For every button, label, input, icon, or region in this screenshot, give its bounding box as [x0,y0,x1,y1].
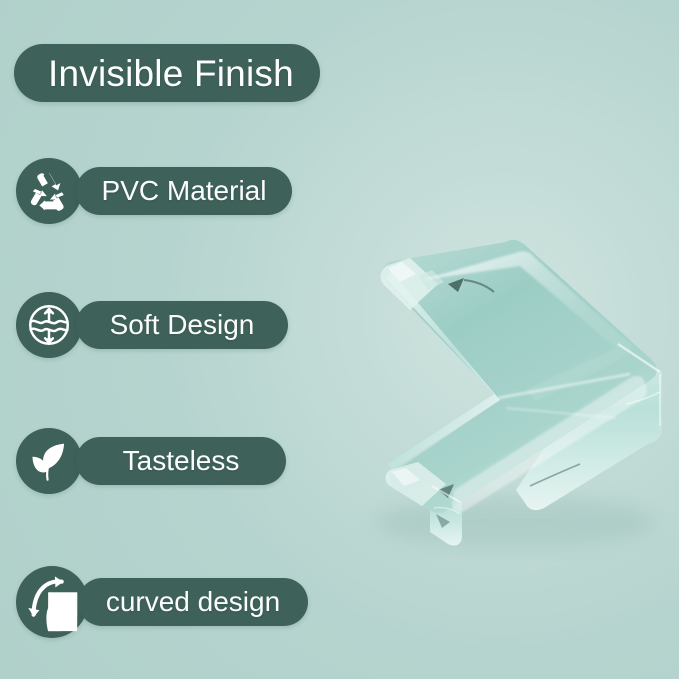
recycle-icon [16,158,82,224]
feature-label-pill: Soft Design [76,301,288,349]
feature-item-curved-design: curved design [16,566,308,638]
page-title-banner: Invisible Finish [14,44,320,102]
feature-item-soft-design: Soft Design [16,292,288,358]
feature-label-pill: PVC Material [76,167,292,215]
feature-label-pill: curved design [78,578,308,626]
leaf-icon [16,428,82,494]
product-image [330,222,679,562]
page-title: Invisible Finish [48,55,294,92]
feature-item-tasteless: Tasteless [16,428,286,494]
feature-label: Soft Design [110,311,255,339]
feature-label: Tasteless [123,447,240,475]
product-feature-graphic: Invisible Finish PVC Material [0,0,679,679]
feature-label-pill: Tasteless [76,437,286,485]
soft-cushion-waves-icon [16,292,82,358]
feature-label: PVC Material [102,177,267,205]
feature-label: curved design [106,588,280,616]
feature-item-pvc-material: PVC Material [16,158,292,224]
